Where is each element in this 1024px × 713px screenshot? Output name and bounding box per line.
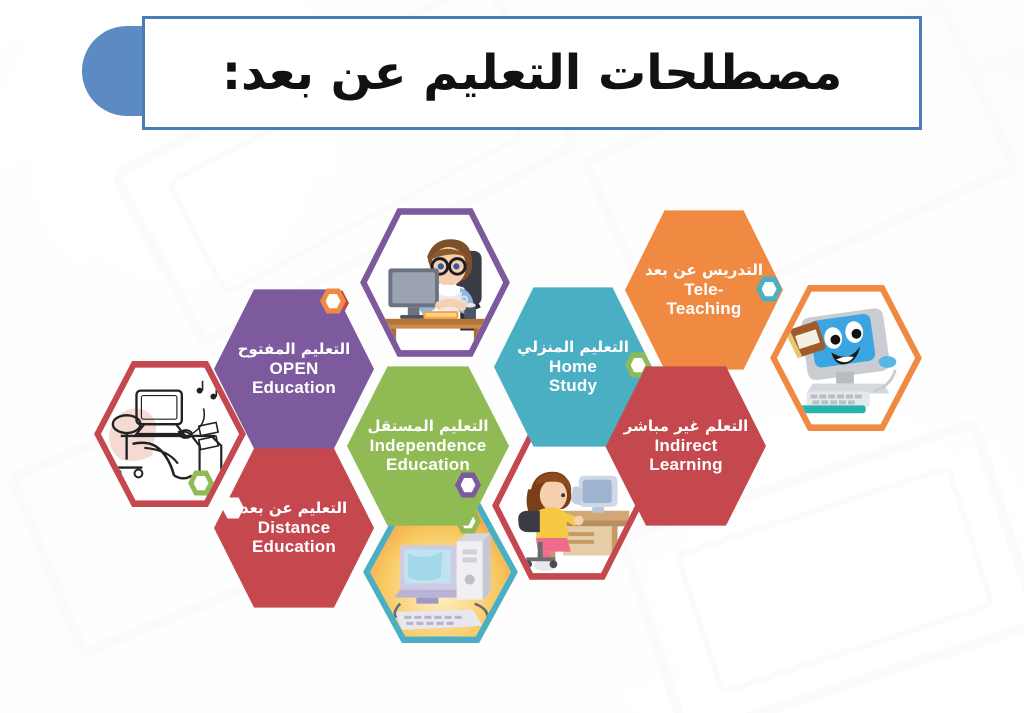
accent-hex-core	[461, 478, 476, 493]
picture-hex-smiling-computer-with-book	[770, 282, 922, 434]
hex-indirect-learning-en2: Learning	[649, 455, 722, 474]
hex-independence-education[interactable]: التعليم المستقل Independence Education	[347, 363, 509, 529]
hex-open-education-en2: Education	[252, 378, 336, 397]
hexagon-cluster: التعليم المفتوح OPEN Education التعليم ا…	[0, 0, 1024, 713]
hex-home-study-arabic: التعليم المنزلي	[517, 339, 629, 356]
hex-independence-education-arabic: التعليم المستقل	[368, 418, 489, 435]
accent-hex-core	[762, 282, 777, 297]
hex-independence-education-en2: Education	[386, 455, 470, 474]
hex-home-study-en2: Study	[549, 376, 597, 395]
accent-hex-core	[631, 358, 646, 373]
hex-indirect-learning-arabic: التعلم غير مباشر	[624, 418, 749, 435]
hex-distance-education-arabic: التعليم عن بعد	[241, 500, 347, 517]
hex-distance-education[interactable]: التعليم عن بعد Distance Education	[214, 445, 374, 611]
hex-tele-teaching-en2: Teaching	[667, 299, 742, 318]
hex-home-study-en1: Home	[549, 357, 597, 376]
hex-distance-education-en2: Education	[252, 537, 336, 556]
accent-hex-core	[194, 476, 209, 491]
accent-hex-core	[326, 294, 341, 309]
hex-independence-education-en1: Independence	[370, 436, 487, 455]
hex-distance-education-en1: Distance	[258, 518, 330, 537]
hex-indirect-learning-en1: Indirect	[654, 436, 717, 455]
hex-tele-teaching-arabic: التدريس عن بعد	[645, 262, 763, 279]
slide-canvas: مصطلحات التعليم عن بعد:	[0, 0, 1024, 713]
accent-hex-core	[226, 501, 241, 516]
hex-open-education-arabic: التعليم المفتوح	[238, 341, 351, 358]
hex-tele-teaching-en1: Tele-	[684, 280, 723, 299]
picture-hex-boy-at-computer	[360, 205, 510, 360]
hex-open-education-en1: OPEN	[270, 359, 319, 378]
